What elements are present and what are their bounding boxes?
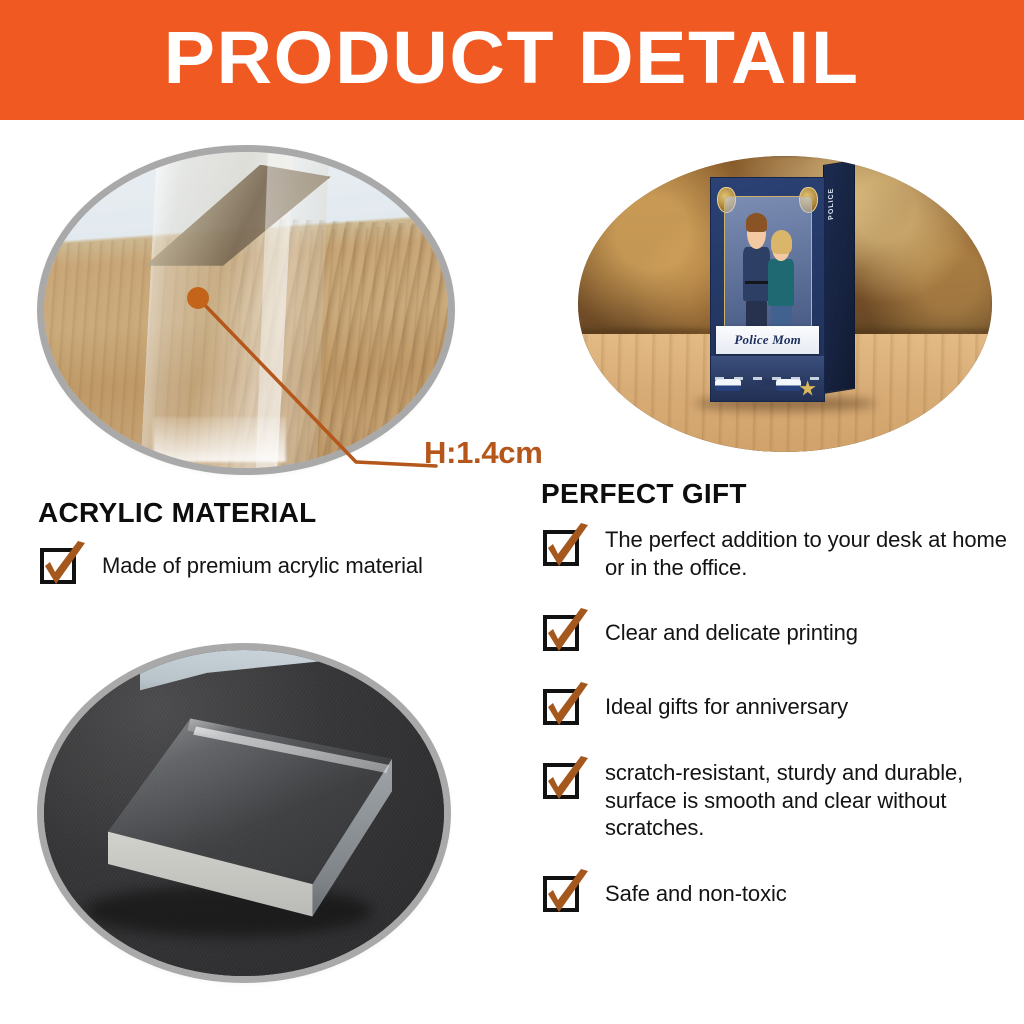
checkbox-checked-icon[interactable] bbox=[541, 607, 593, 655]
feature-list-perfect-gift: The perfect addition to your desk at hom… bbox=[541, 522, 1011, 942]
feature-text: The perfect addition to your desk at hom… bbox=[605, 522, 1011, 581]
mom-hair bbox=[771, 230, 792, 254]
section-heading-acrylic-material: ACRYLIC MATERIAL bbox=[38, 497, 317, 529]
dimension-label: H:1.4cm bbox=[424, 435, 543, 471]
checkmark-icon bbox=[541, 755, 593, 803]
feature-text: Made of premium acrylic material bbox=[102, 540, 423, 580]
box-street-artwork bbox=[711, 356, 823, 401]
officer-hair bbox=[746, 213, 768, 232]
checkmark-icon bbox=[541, 607, 593, 655]
feature-text: Clear and delicate printing bbox=[605, 607, 858, 647]
police-cruiser-icon-left bbox=[715, 379, 741, 391]
checkbox-checked-icon[interactable] bbox=[541, 522, 593, 570]
checkbox-checked-icon[interactable] bbox=[541, 868, 593, 916]
section-heading-perfect-gift: PERFECT GIFT bbox=[541, 478, 747, 510]
police-cruiser-icon-right bbox=[776, 379, 802, 391]
page-title: PRODUCT DETAIL bbox=[164, 21, 860, 95]
page-header-bar: PRODUCT DETAIL bbox=[0, 0, 1024, 120]
acrylic-base-highlight bbox=[153, 417, 286, 461]
feature-text: Safe and non-toxic bbox=[605, 868, 787, 908]
acrylic-edge-photo bbox=[44, 152, 448, 468]
acrylic-block bbox=[108, 718, 392, 920]
checkmark-icon bbox=[541, 681, 593, 729]
feature-list-acrylic-material: Made of premium acrylic material bbox=[38, 540, 518, 614]
checkbox-checked-icon[interactable] bbox=[541, 681, 593, 729]
product-gift-box: POLICE bbox=[710, 177, 855, 402]
road-dashes bbox=[715, 377, 821, 380]
checkbox-checked-icon[interactable] bbox=[541, 755, 593, 803]
feature-item: Safe and non-toxic bbox=[541, 868, 1011, 916]
checkmark-icon bbox=[38, 540, 90, 588]
mom-sweater bbox=[768, 259, 794, 306]
product-box-photo: POLICE bbox=[578, 156, 992, 452]
dimension-callout-dot bbox=[187, 287, 209, 309]
box-display-window bbox=[724, 196, 812, 339]
box-front-panel: Police Mom bbox=[710, 177, 824, 402]
feature-item: Ideal gifts for anniversary bbox=[541, 681, 1011, 729]
checkmark-icon bbox=[541, 522, 593, 570]
feature-item: Clear and delicate printing bbox=[541, 607, 1011, 655]
figure-mom bbox=[765, 233, 798, 334]
box-name-banner: Police Mom bbox=[716, 326, 819, 354]
feature-item: The perfect addition to your desk at hom… bbox=[541, 522, 1011, 581]
feature-text: Ideal gifts for anniversary bbox=[605, 681, 848, 721]
feature-item: Made of premium acrylic material bbox=[38, 540, 518, 588]
police-hat-icon bbox=[761, 379, 774, 385]
box-side-panel: POLICE bbox=[823, 160, 855, 394]
gold-star-icon bbox=[799, 380, 816, 397]
box-side-label: POLICE bbox=[828, 187, 835, 220]
box-banner-text: Police Mom bbox=[734, 332, 801, 348]
feature-item: scratch-resistant, sturdy and durable, s… bbox=[541, 755, 1011, 842]
acrylic-block-photo bbox=[44, 650, 444, 976]
checkbox-checked-icon[interactable] bbox=[38, 540, 90, 588]
checkmark-icon bbox=[541, 868, 593, 916]
feature-text: scratch-resistant, sturdy and durable, s… bbox=[605, 755, 1011, 842]
